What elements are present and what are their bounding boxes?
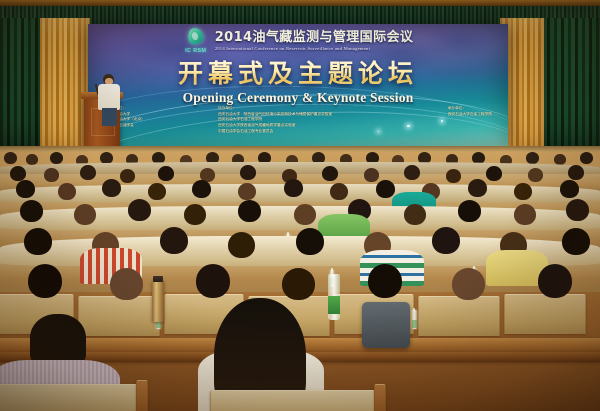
sponsor-label-cohost: 协办单位： [218,106,332,112]
audience-area [0,152,600,411]
headline-english: Opening Ceremony & Keynote Session [88,90,508,106]
speaker-at-podium [98,74,120,124]
sponsor-block-organizer: 承办单位： 西安石油大学石油工程学院 [448,106,492,117]
thermos [152,280,164,322]
headline-chinese: 开幕式及主题论坛 [88,60,508,88]
flame-drop-icon [186,26,205,46]
shoulder-bag [362,302,410,348]
conference-title-chinese: 2014油气藏监测与管理国际会议 [215,31,414,45]
icrsm-logo-icon: IC RSM [183,28,209,54]
water-bottle-green-label [328,274,340,320]
sponsor-line: 西安石油大学石油工程学院 [448,112,492,118]
projection-screen: IC RSM 2014油气藏监测与管理国际会议 2014 Internation… [88,24,508,146]
water-bottle [412,310,417,329]
conference-title-english: 2014 International Conference on Reservo… [215,46,370,51]
screen-header: IC RSM 2014油气藏监测与管理国际会议 2014 Internation… [88,26,508,56]
sponsor-label-organizer: 承办单位： [448,106,492,112]
icrsm-logo-text: IC RSM [183,48,209,54]
sponsor-block-cohost: 协办单位： 西安石油大学 · 陕西省油气田环境污染控制技术与储层保护重点实验室 … [218,106,332,135]
screen-headline: 开幕式及主题论坛 Opening Ceremony & Keynote Sess… [88,60,508,106]
conference-photo: IC RSM 2014油气藏监测与管理国际会议 2014 Internation… [0,0,600,411]
sponsor-line: 中国石油学会石油工程专业委员会 [218,129,332,135]
screen-sponsors: 主办单位： 西安石油大学 中国石油大学（北京） 陕西省石油学会 协办单位： 西安… [88,106,508,142]
